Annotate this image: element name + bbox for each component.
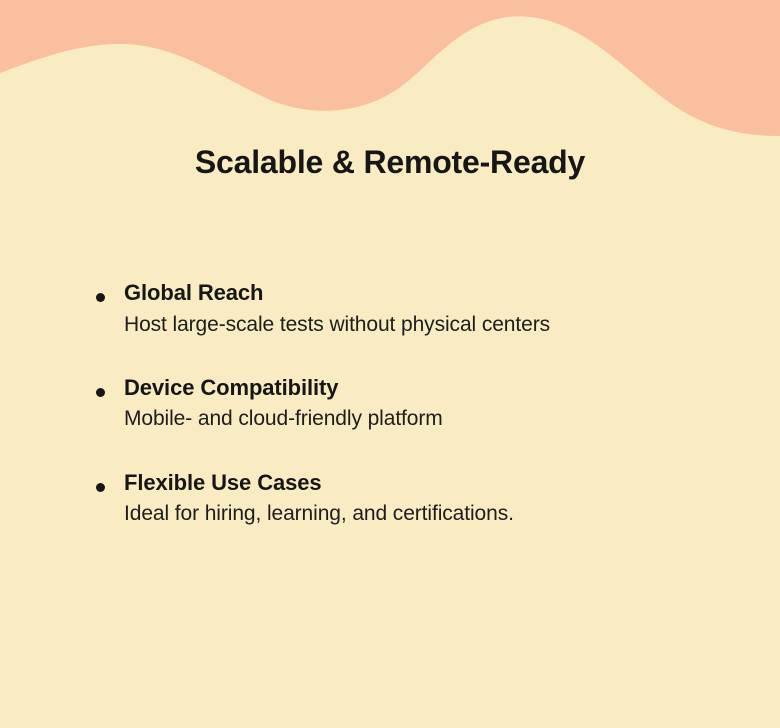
feature-list: Global Reach Host large-scale tests with…	[92, 279, 732, 527]
feature-description: Mobile- and cloud-friendly platform	[124, 405, 732, 432]
top-wave-decoration	[0, 0, 780, 160]
slide-canvas: Scalable & Remote-Ready Global Reach Hos…	[0, 0, 780, 728]
list-item: Global Reach Host large-scale tests with…	[92, 279, 732, 338]
feature-title: Flexible Use Cases	[124, 469, 732, 497]
feature-title: Device Compatibility	[124, 374, 732, 402]
feature-title: Global Reach	[124, 279, 732, 307]
list-item: Device Compatibility Mobile- and cloud-f…	[92, 374, 732, 433]
list-item: Flexible Use Cases Ideal for hiring, lea…	[92, 469, 732, 528]
bullet-dot-icon	[96, 293, 105, 302]
bullet-dot-icon	[96, 483, 105, 492]
feature-description: Ideal for hiring, learning, and certific…	[124, 500, 732, 527]
feature-description: Host large-scale tests without physical …	[124, 311, 732, 338]
bullet-dot-icon	[96, 388, 105, 397]
page-title: Scalable & Remote-Ready	[0, 143, 780, 181]
